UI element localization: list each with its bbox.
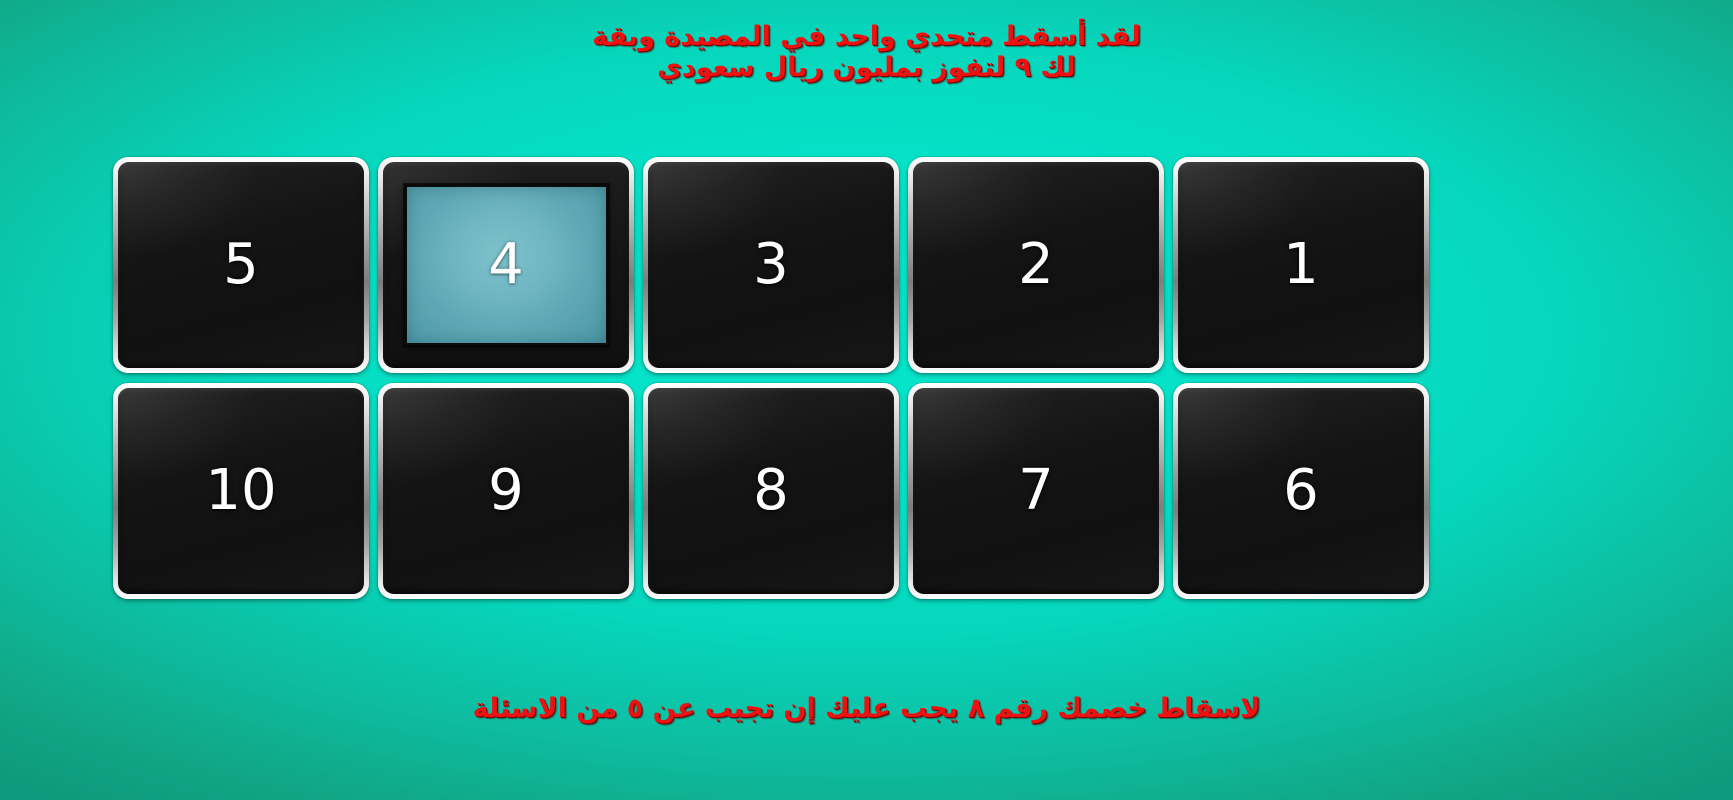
- tile-7[interactable]: 7: [908, 383, 1164, 599]
- top-status-banner: لقد أسقط متحدي واحد في المصيدة وبقة لك ٩…: [0, 20, 1733, 85]
- tile-4-active-screen: 4: [404, 184, 609, 346]
- tile-7-number: 7: [1018, 463, 1054, 519]
- bottom-instruction-banner: لاسقاط خصمك رقم ٨ يجب عليك إن تجيب عن ٥ …: [0, 692, 1733, 727]
- tile-2-number: 2: [1018, 237, 1054, 293]
- tile-4[interactable]: 4: [378, 157, 634, 373]
- tile-5-face: 5: [118, 162, 364, 368]
- tile-4-number: 4: [488, 237, 524, 293]
- game-screen: لقد أسقط متحدي واحد في المصيدة وبقة لك ٩…: [0, 0, 1733, 800]
- bottom-banner-line-1: لاسقاط خصمك رقم ٨ يجب عليك إن تجيب عن ٥ …: [0, 692, 1733, 727]
- tile-1-face: 1: [1178, 162, 1424, 368]
- tile-6[interactable]: 6: [1173, 383, 1429, 599]
- tile-board: 5 4 3 2: [113, 157, 1424, 599]
- tile-4-face: 4: [383, 162, 629, 368]
- tile-8-number: 8: [753, 463, 789, 519]
- tile-3-number: 3: [753, 237, 789, 293]
- tile-5-number: 5: [223, 237, 259, 293]
- tile-3[interactable]: 3: [643, 157, 899, 373]
- tile-row-1: 5 4 3 2: [113, 157, 1424, 373]
- tile-row-2: 10 9 8 7 6: [113, 383, 1424, 599]
- tile-9-number: 9: [488, 463, 524, 519]
- tile-8[interactable]: 8: [643, 383, 899, 599]
- tile-1-number: 1: [1283, 237, 1319, 293]
- tile-10-number: 10: [205, 463, 276, 519]
- tile-3-face: 3: [648, 162, 894, 368]
- tile-2[interactable]: 2: [908, 157, 1164, 373]
- tile-10[interactable]: 10: [113, 383, 369, 599]
- tile-1[interactable]: 1: [1173, 157, 1429, 373]
- tile-5[interactable]: 5: [113, 157, 369, 373]
- top-banner-line-2: لك ٩ لتفوز بمليون ريال سعودي: [0, 51, 1733, 86]
- tile-7-face: 7: [913, 388, 1159, 594]
- tile-9[interactable]: 9: [378, 383, 634, 599]
- tile-8-face: 8: [648, 388, 894, 594]
- tile-6-number: 6: [1283, 463, 1319, 519]
- tile-6-face: 6: [1178, 388, 1424, 594]
- tile-10-face: 10: [118, 388, 364, 594]
- tile-9-face: 9: [383, 388, 629, 594]
- top-banner-line-1: لقد أسقط متحدي واحد في المصيدة وبقة: [0, 20, 1733, 55]
- tile-2-face: 2: [913, 162, 1159, 368]
